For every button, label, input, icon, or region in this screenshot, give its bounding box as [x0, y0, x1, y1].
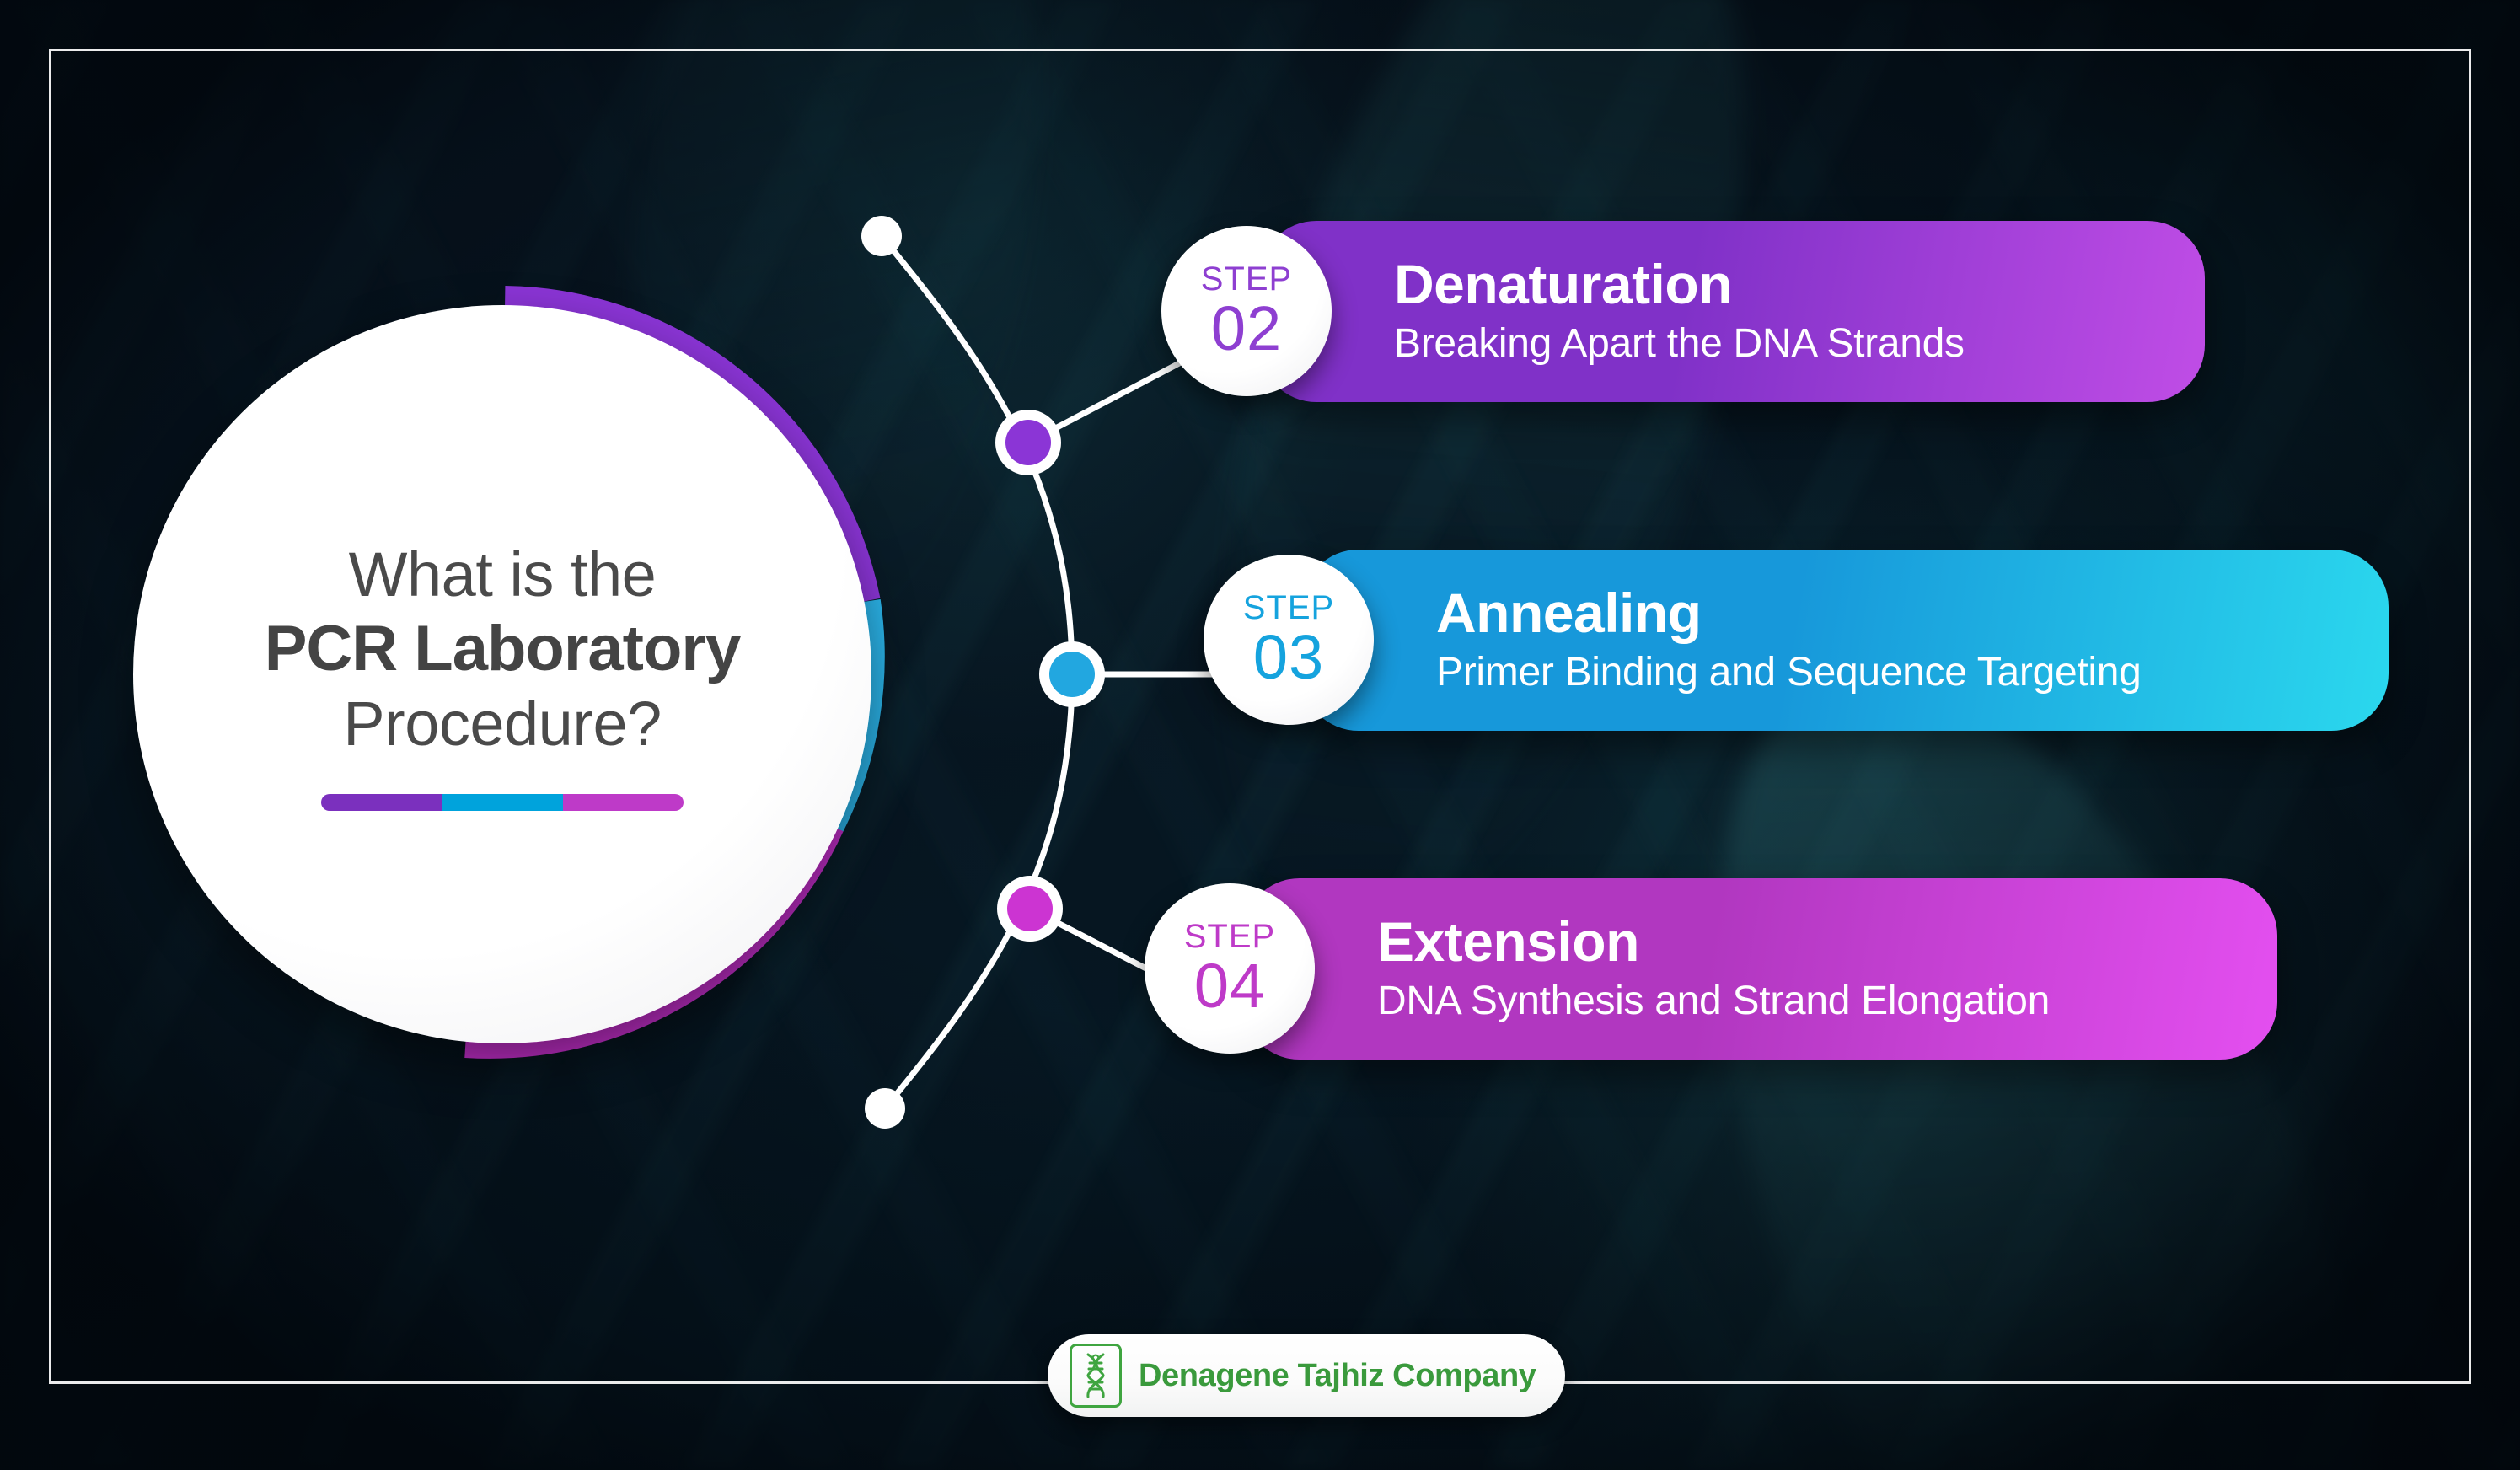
infographic-canvas: What is the PCR Laboratory Procedure? ST… — [0, 0, 2520, 1470]
step-subtitle: Breaking Apart the DNA Strands — [1394, 319, 2154, 368]
step-badge-02[interactable]: STEP 02 — [1161, 226, 1332, 396]
step-row-03[interactable]: STEP 03 Annealing Primer Binding and Seq… — [1204, 550, 2389, 731]
dna-helix-icon — [1070, 1344, 1122, 1408]
hero-underline-bar — [321, 794, 684, 811]
step-badge-04[interactable]: STEP 04 — [1145, 883, 1315, 1054]
step-card-04[interactable]: Extension DNA Synthesis and Strand Elong… — [1242, 878, 2277, 1060]
hero-title-line-1: What is the — [349, 538, 657, 611]
hero-card: What is the PCR Laboratory Procedure? — [133, 305, 871, 1043]
step-subtitle: DNA Synthesis and Strand Elongation — [1377, 977, 2227, 1026]
step-title: Extension — [1377, 912, 2227, 972]
step-card-02[interactable]: Denaturation Breaking Apart the DNA Stra… — [1259, 221, 2205, 402]
step-badge-03[interactable]: STEP 03 — [1204, 555, 1374, 725]
step-card-03[interactable]: Annealing Primer Binding and Sequence Ta… — [1301, 550, 2389, 731]
hero-underline-segment-3 — [563, 794, 684, 811]
step-row-04[interactable]: STEP 04 Extension DNA Synthesis and Stra… — [1145, 878, 2277, 1060]
step-badge-label: STEP — [1184, 920, 1275, 953]
step-title: Annealing — [1436, 583, 2338, 643]
step-row-02[interactable]: STEP 02 Denaturation Breaking Apart the … — [1161, 221, 2205, 402]
step-badge-number: 04 — [1194, 953, 1265, 1019]
step-badge-label: STEP — [1243, 591, 1334, 625]
brand-name: Denagene Tajhiz Company — [1139, 1358, 1536, 1394]
hero-underline-segment-1 — [321, 794, 442, 811]
step-badge-label: STEP — [1201, 262, 1292, 296]
hero-title-line-3: Procedure? — [343, 687, 662, 760]
hero-title-line-2: PCR Laboratory — [265, 611, 741, 687]
step-badge-number: 02 — [1211, 296, 1282, 362]
hero-circle-group: What is the PCR Laboratory Procedure? — [133, 278, 925, 1070]
step-badge-number: 03 — [1253, 625, 1324, 690]
step-subtitle: Primer Binding and Sequence Targeting — [1436, 648, 2338, 697]
step-title: Denaturation — [1394, 255, 2154, 314]
brand-badge[interactable]: Denagene Tajhiz Company — [1048, 1334, 1565, 1417]
hero-underline-segment-2 — [442, 794, 562, 811]
